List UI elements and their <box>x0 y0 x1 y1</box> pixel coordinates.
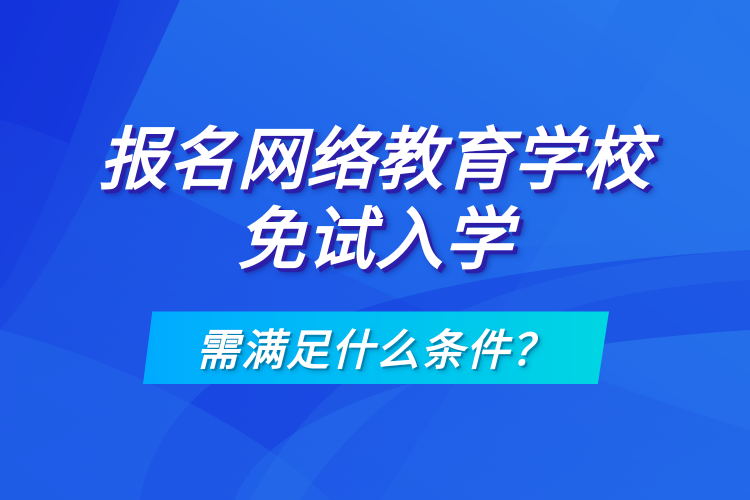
headline-line-2: 免试入学 <box>0 198 750 282</box>
headline-block: 报名网络教育学校 免试入学 <box>0 118 750 282</box>
headline-line-1: 报名网络教育学校 <box>0 118 750 202</box>
subtitle-banner: 需满足什么条件？ <box>143 310 609 384</box>
promo-banner: 报名网络教育学校 免试入学 需满足什么条件？ <box>0 0 750 500</box>
content-layer: 报名网络教育学校 免试入学 需满足什么条件？ <box>0 0 750 500</box>
subtitle-text: 需满足什么条件？ <box>143 310 609 384</box>
